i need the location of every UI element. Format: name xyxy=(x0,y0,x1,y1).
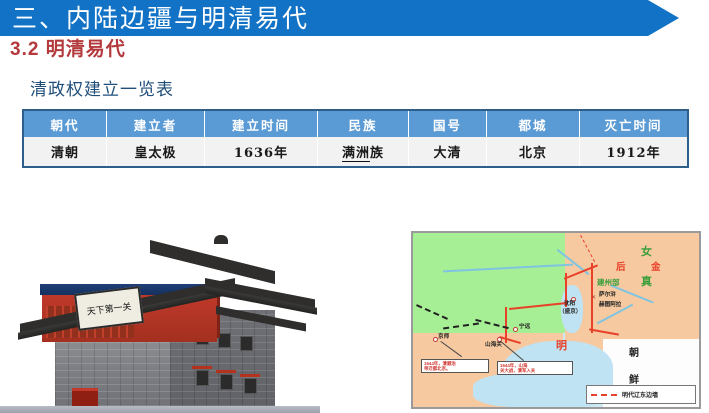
photo-red-trim xyxy=(192,366,212,369)
map-legend: 明代辽东边墙 xyxy=(586,385,696,404)
map-label-houjin-jin: 金 xyxy=(651,263,661,273)
photo-red-trim xyxy=(216,370,236,373)
map-city-marker-ningyuan xyxy=(513,327,518,332)
cell-statename: 大清 xyxy=(409,137,487,167)
map-label-saerhu: 萨尔浒 xyxy=(599,293,616,299)
photo-window xyxy=(220,374,233,390)
map-callout-beijing: 1644年，清顺治 帝迁都北京。 xyxy=(421,359,489,373)
slide-root: 三、内陆边疆与明清易代 3.2 明清易代 清政权建立一览表 朝代 建立者 建立时… xyxy=(0,0,709,413)
photo-window xyxy=(244,378,257,394)
cell-founded: 1636年 xyxy=(205,137,318,167)
map-callout-shanhaiguan: 1644年，山海 关大战，清军入关 xyxy=(497,361,573,375)
column-header-founded: 建立时间 xyxy=(205,110,318,137)
page-title: 三、内陆边疆与明清易代 xyxy=(12,2,309,35)
map-sea-south xyxy=(473,373,593,407)
map-label-shanhaiguan: 山海关 xyxy=(485,343,502,349)
photo-ground xyxy=(0,406,320,413)
map-label-chaoxian-chao: 朝 xyxy=(629,349,639,359)
map-label-ningyuan: 宁远 xyxy=(519,325,530,331)
gate-plaque-text: 天下第一关 xyxy=(86,299,132,317)
cell-ended: 1912年 xyxy=(580,137,689,167)
map-label-jianzhoubu: 建州部 xyxy=(597,279,620,287)
map-label-nvzhen-zhen: 真 xyxy=(641,277,652,288)
table-container: 朝代 建立者 建立时间 民族 国号 都城 灭亡时间 清朝 皇太极 1636年 满… xyxy=(22,109,665,168)
map-label-houjin-hou: 后 xyxy=(616,263,626,273)
qing-dynasty-table: 朝代 建立者 建立时间 民族 国号 都城 灭亡时间 清朝 皇太极 1636年 满… xyxy=(22,109,689,168)
callout-shanhaiguan-line2: 关大战，清军入关 xyxy=(500,368,570,373)
cell-founder: 皇太极 xyxy=(107,137,205,167)
historical-map: 沈阳 （盛京） 宁远 山海关 京师 ✕ 萨尔浒 赫图阿拉 女 真 后 金 建州部… xyxy=(411,231,701,409)
map-label-jingshi: 京师 xyxy=(438,335,449,341)
photo-roof-upper xyxy=(150,240,275,284)
column-header-ended: 灭亡时间 xyxy=(580,110,689,137)
photo-window xyxy=(196,370,209,386)
photo-window xyxy=(240,336,253,351)
column-header-statename: 国号 xyxy=(409,110,487,137)
cell-ethnicity: 满洲族 xyxy=(318,137,409,167)
map-label-ming: 明 xyxy=(556,341,567,352)
column-header-capital: 都城 xyxy=(487,110,580,137)
gate-tower-photo: 天下第一关 xyxy=(0,218,320,413)
table-header-row: 朝代 建立者 建立时间 民族 国号 都城 灭亡时间 xyxy=(23,110,688,137)
map-label-hetuala: 赫图阿拉 xyxy=(599,303,621,309)
map-landmasses xyxy=(413,233,699,407)
callout-beijing-line2: 帝迁都北京。 xyxy=(424,366,486,371)
table-row: 清朝 皇太极 1636年 满洲族 大清 北京 1912年 xyxy=(23,137,688,167)
map-label-nvzhen-nv: 女 xyxy=(641,247,652,258)
column-header-ethnicity: 民族 xyxy=(318,110,409,137)
map-label-shengjing: （盛京） xyxy=(559,310,581,316)
photo-red-trim xyxy=(240,374,260,377)
section-subtitle: 3.2 明清易代 xyxy=(10,38,126,62)
cell-capital: 北京 xyxy=(487,137,580,167)
table-caption: 清政权建立一览表 xyxy=(30,78,174,102)
cell-ethnicity-underlined: 满洲 xyxy=(342,146,370,162)
map-label-shenyang: 沈阳 xyxy=(564,302,575,308)
map-battle-marker-saerhu: ✕ xyxy=(591,295,596,301)
column-header-dynasty: 朝代 xyxy=(23,110,107,137)
column-header-founder: 建立者 xyxy=(107,110,205,137)
red-dashed-line-icon xyxy=(591,394,617,396)
map-legend-label: 明代辽东边墙 xyxy=(622,390,658,399)
cell-ethnicity-suffix: 族 xyxy=(370,146,384,161)
cell-dynasty: 清朝 xyxy=(23,137,107,167)
photo-roof-ridge-ornament xyxy=(214,235,228,244)
